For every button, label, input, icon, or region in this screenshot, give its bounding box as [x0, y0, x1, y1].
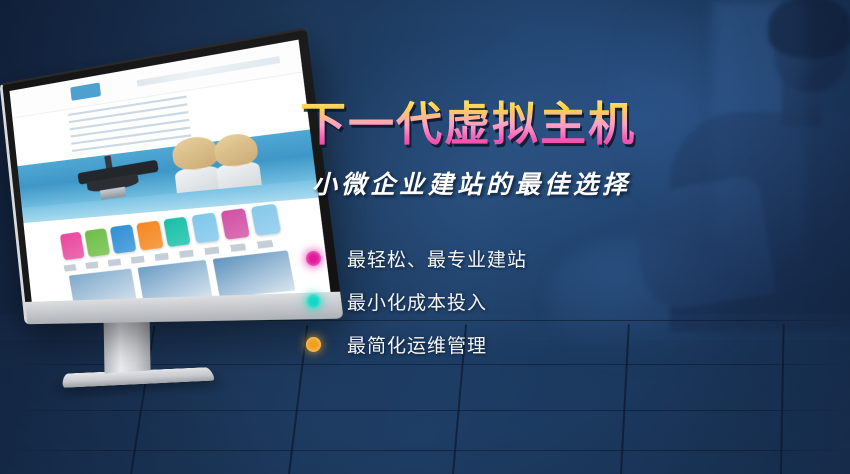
website-app-icon — [60, 232, 85, 261]
desktop-monitor — [8, 82, 294, 402]
hosting-promo-banner: 下一代虚拟主机 小微企业建站的最佳选择 最轻松、最专业建站最小化成本投入最简化运… — [0, 0, 850, 474]
feature-item: 最简化运维管理 — [306, 331, 720, 358]
page-subtitle: 小微企业建站的最佳选择 — [312, 165, 720, 201]
website-app-icon — [136, 221, 163, 251]
website-app-icon — [250, 204, 281, 237]
website-preview — [10, 40, 331, 302]
feature-label: 最小化成本投入 — [347, 288, 487, 315]
website-app-icon — [110, 225, 136, 255]
feature-label: 最轻松、最专业建站 — [347, 245, 527, 272]
website-app-icon — [84, 228, 110, 257]
website-app-icon — [220, 208, 250, 240]
feature-list: 最轻松、最专业建站最小化成本投入最简化运维管理 — [306, 245, 720, 358]
page-title: 下一代虚拟主机 — [300, 100, 720, 149]
feature-item: 最小化成本投入 — [306, 288, 720, 315]
website-app-icon — [191, 213, 220, 245]
website-ship-graphic — [76, 146, 165, 200]
feature-label: 最简化运维管理 — [347, 331, 487, 358]
feature-item: 最轻松、最专业建站 — [306, 245, 720, 272]
website-thumbnail — [69, 269, 138, 302]
website-person-graphic-secondary — [210, 131, 264, 187]
promo-text-block: 下一代虚拟主机 小微企业建站的最佳选择 最轻松、最专业建站最小化成本投入最简化运… — [300, 100, 720, 374]
website-thumbnail — [213, 251, 296, 298]
monitor-screen — [10, 40, 331, 302]
website-app-icon — [163, 217, 191, 248]
bullet-dot-icon — [306, 294, 321, 309]
bullet-dot-icon — [306, 251, 321, 266]
bullet-dot-icon — [306, 337, 321, 352]
